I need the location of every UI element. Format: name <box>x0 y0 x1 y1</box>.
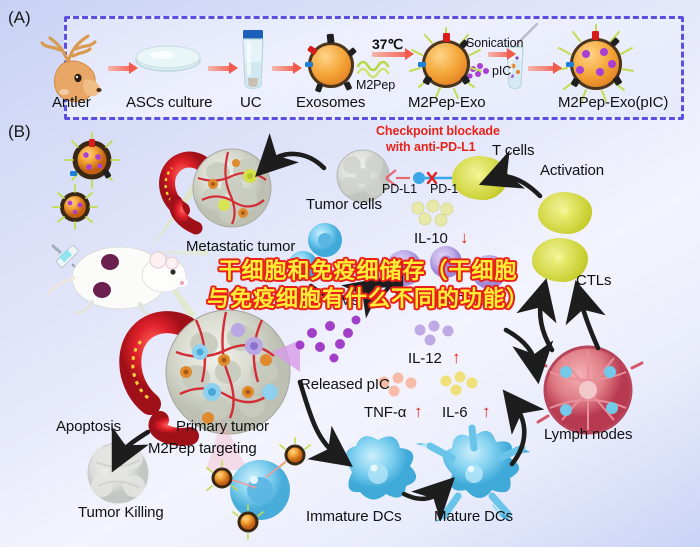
label-checkpoint-line1: Checkpoint blockade <box>376 124 500 138</box>
label-activation: Activation <box>540 162 604 179</box>
label-primary-tumor: Primary tumor <box>176 418 269 435</box>
label-pd-l1: PD-L1 <box>382 182 417 196</box>
label-tumor-cells: Tumor cells <box>306 196 382 213</box>
label-immature-dcs: Immature DCs <box>306 508 401 525</box>
label-tumor-killing: Tumor Killing <box>78 504 164 521</box>
label-tnf-alpha: TNF-α <box>364 404 406 421</box>
tnf-alpha-trend-arrow: ↑ <box>414 402 422 422</box>
label-checkpoint-line2: with anti-PD-L1 <box>386 140 475 154</box>
label-released-pic: Released pIC <box>300 376 390 393</box>
label-il-10: IL-10 <box>414 230 448 247</box>
label-lymph-nodes: Lymph nodes <box>544 426 632 443</box>
label-m1-tams: M1-TAMs <box>428 292 491 309</box>
label-m2-tams: M2-TAMs <box>296 292 359 309</box>
label-ctls: CTLs <box>576 272 611 289</box>
label-pd-1: PD-1 <box>430 182 458 196</box>
label-apoptosis: Apoptosis <box>56 418 121 435</box>
label-t-cells: T cells <box>492 142 534 159</box>
il-12-trend-arrow: ↑ <box>452 348 460 368</box>
label-mature-dcs: Mature DCs <box>434 508 513 525</box>
figure-canvas: (A) <box>0 0 700 547</box>
label-il-12: IL-12 <box>408 350 442 367</box>
il-10-trend-arrow: ↓ <box>460 228 468 248</box>
il-6-trend-arrow: ↑ <box>482 402 490 422</box>
label-m2pep-targeting: M2Pep targeting <box>148 440 257 457</box>
label-il-6: IL-6 <box>442 404 467 421</box>
label-metastatic-tumor: Metastatic tumor <box>186 238 295 255</box>
